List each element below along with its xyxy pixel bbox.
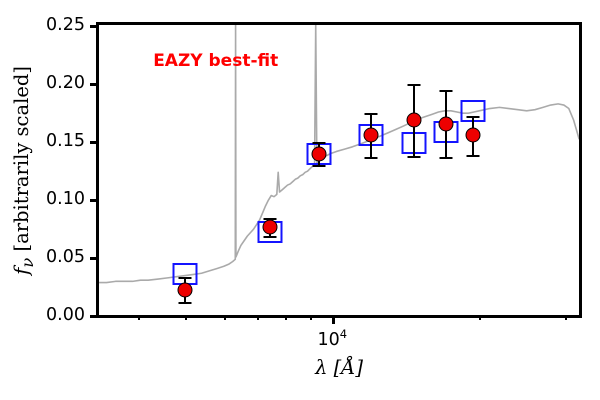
error-bar-cap <box>364 157 377 159</box>
x-tick-minor <box>310 315 312 320</box>
observed-photometry-point <box>312 146 327 161</box>
x-axis-label-unit: [Å] <box>334 356 363 379</box>
error-bar-cap <box>313 165 326 167</box>
x-axis-label: λ [Å] <box>96 356 582 379</box>
y-tick-label: 0.05 <box>46 247 85 267</box>
x-tick-major <box>332 315 335 324</box>
x-tick-minor <box>138 315 140 320</box>
observed-photometry-point <box>465 128 480 143</box>
error-bar-cap <box>364 113 377 115</box>
y-tick <box>90 83 99 86</box>
y-tick-label: 0.25 <box>46 15 85 35</box>
observed-photometry-point <box>407 113 422 128</box>
y-tick <box>90 257 99 260</box>
y-axis-label-f: f <box>10 267 33 274</box>
x-tick-minor <box>479 315 481 320</box>
y-tick-label: 0.00 <box>46 305 85 325</box>
error-bar-cap <box>440 157 453 159</box>
y-tick-label: 0.20 <box>46 73 85 93</box>
x-axis-label-lambda: λ <box>315 356 327 379</box>
observed-photometry-point <box>363 128 378 143</box>
x-tick-label: 104 <box>317 327 347 350</box>
error-bar-cap <box>408 84 421 86</box>
x-tick-minor <box>224 315 226 320</box>
y-tick <box>90 141 99 144</box>
x-tick-minor <box>565 315 567 320</box>
error-bar-cap <box>179 277 192 279</box>
error-bar-cap <box>313 142 326 144</box>
y-tick-label: 0.15 <box>46 131 85 151</box>
plot-area: 0.000.050.100.150.200.25 104 EAZY best-f… <box>96 22 582 318</box>
observed-photometry-point <box>178 282 193 297</box>
eazy-best-fit-annotation: EAZY best-fit <box>153 51 278 71</box>
error-bar-cap <box>263 236 276 238</box>
observed-photometry-point <box>262 219 277 234</box>
y-tick <box>90 315 99 318</box>
y-axis-label: fν [arbitrarily scaled] <box>6 22 40 318</box>
x-tick-minor <box>285 315 287 320</box>
y-tick <box>90 25 99 28</box>
error-bar-cap <box>408 156 421 158</box>
error-bar-cap <box>179 302 192 304</box>
observed-photometry-point <box>439 116 454 131</box>
y-tick <box>90 199 99 202</box>
error-bar-cap <box>440 90 453 92</box>
y-tick-label: 0.10 <box>46 189 85 209</box>
x-tick-minor <box>185 315 187 320</box>
y-axis-label-rest: [arbitrarily scaled] <box>10 66 33 252</box>
error-bar-cap <box>466 155 479 157</box>
y-axis-label-nu: ν <box>17 257 36 267</box>
x-tick-minor <box>257 315 259 320</box>
error-bar-cap <box>466 116 479 118</box>
figure-canvas: fν [arbitrarily scaled] λ [Å] 0.000.050.… <box>0 0 600 400</box>
